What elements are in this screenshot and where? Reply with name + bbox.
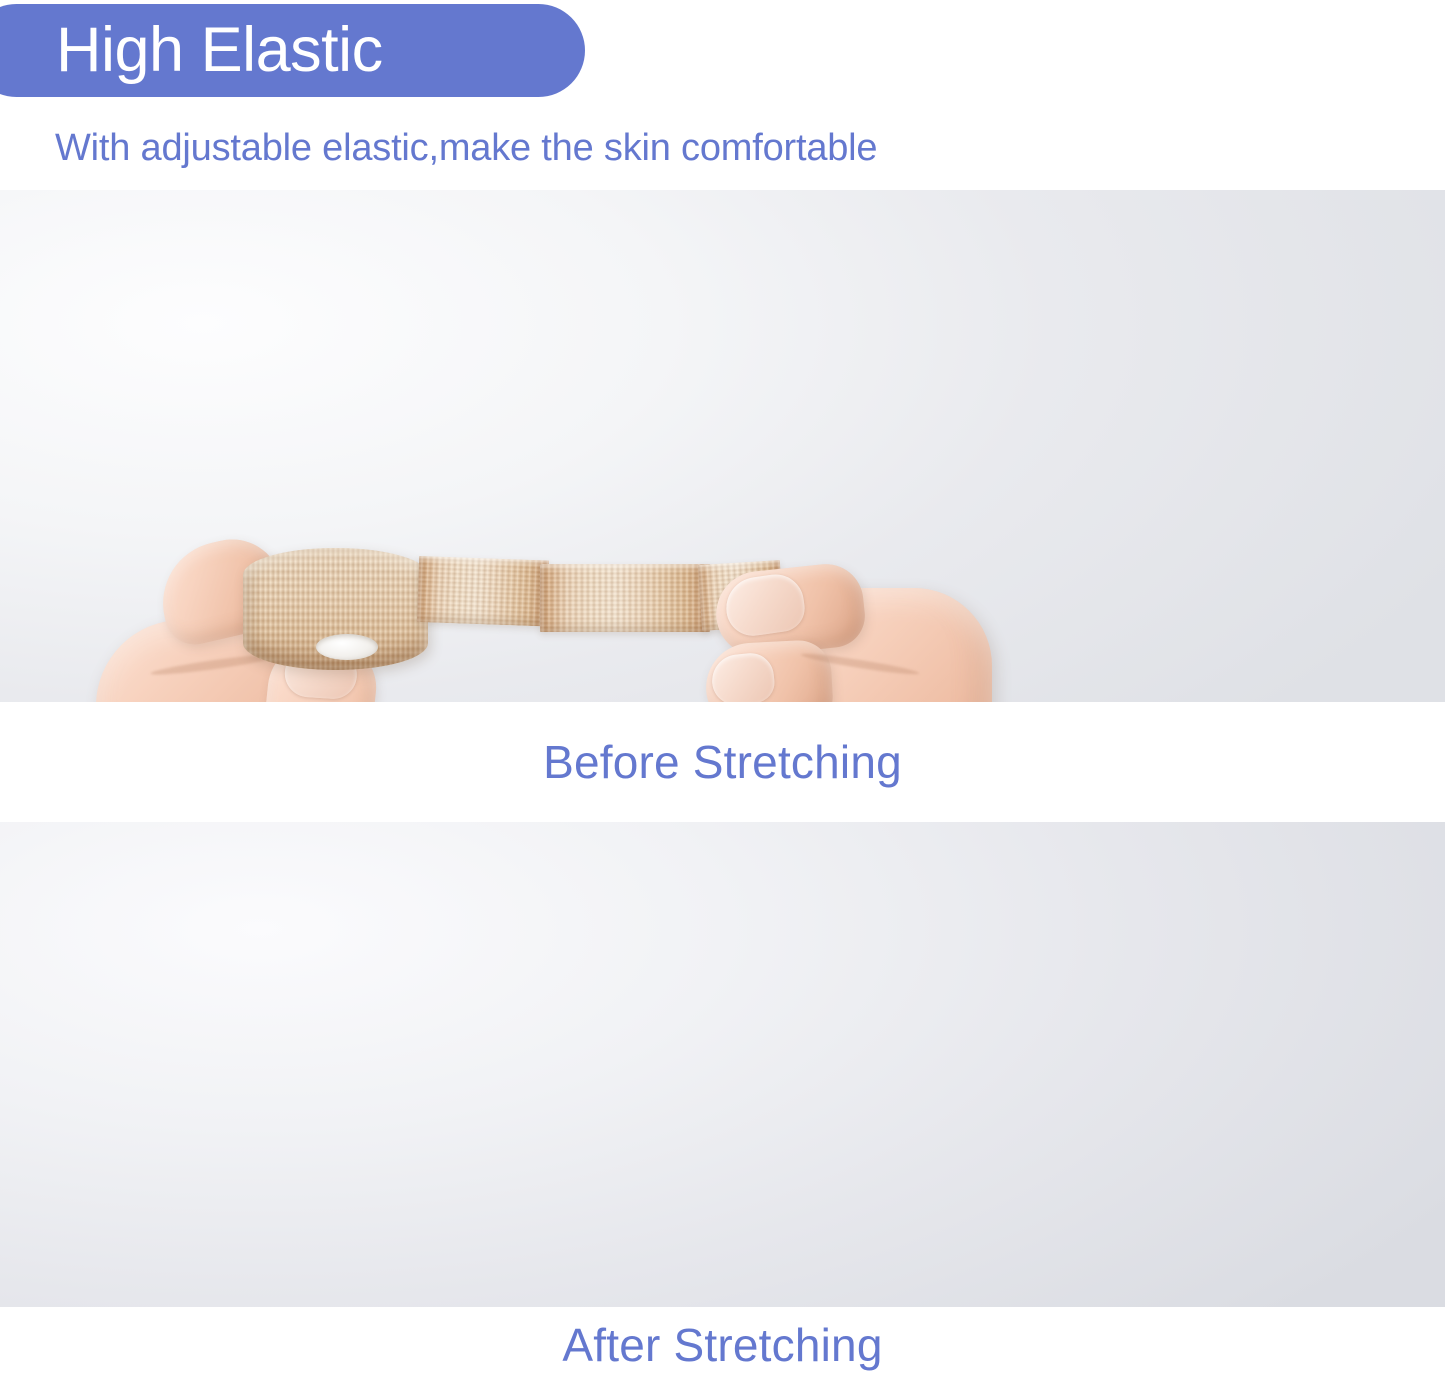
photo-background	[0, 822, 1445, 1307]
product-photo-after	[0, 822, 1445, 1307]
caption-before-text: Before Stretching	[543, 736, 902, 788]
title-badge: High Elastic	[0, 4, 585, 97]
caption-before: Before Stretching	[0, 702, 1445, 822]
bandage-roll-core-before	[316, 634, 378, 660]
page-title: High Elastic	[56, 19, 383, 82]
product-photo-before	[0, 190, 1445, 702]
bandage-strip-segment-left	[417, 556, 549, 626]
caption-after-text: After Stretching	[562, 1319, 882, 1371]
header: High Elastic With adjustable elastic,mak…	[0, 0, 1445, 190]
bandage-strip-segment-middle	[540, 564, 710, 632]
caption-after: After Stretching	[0, 1307, 1445, 1383]
subtitle-text: With adjustable elastic,make the skin co…	[55, 125, 877, 171]
